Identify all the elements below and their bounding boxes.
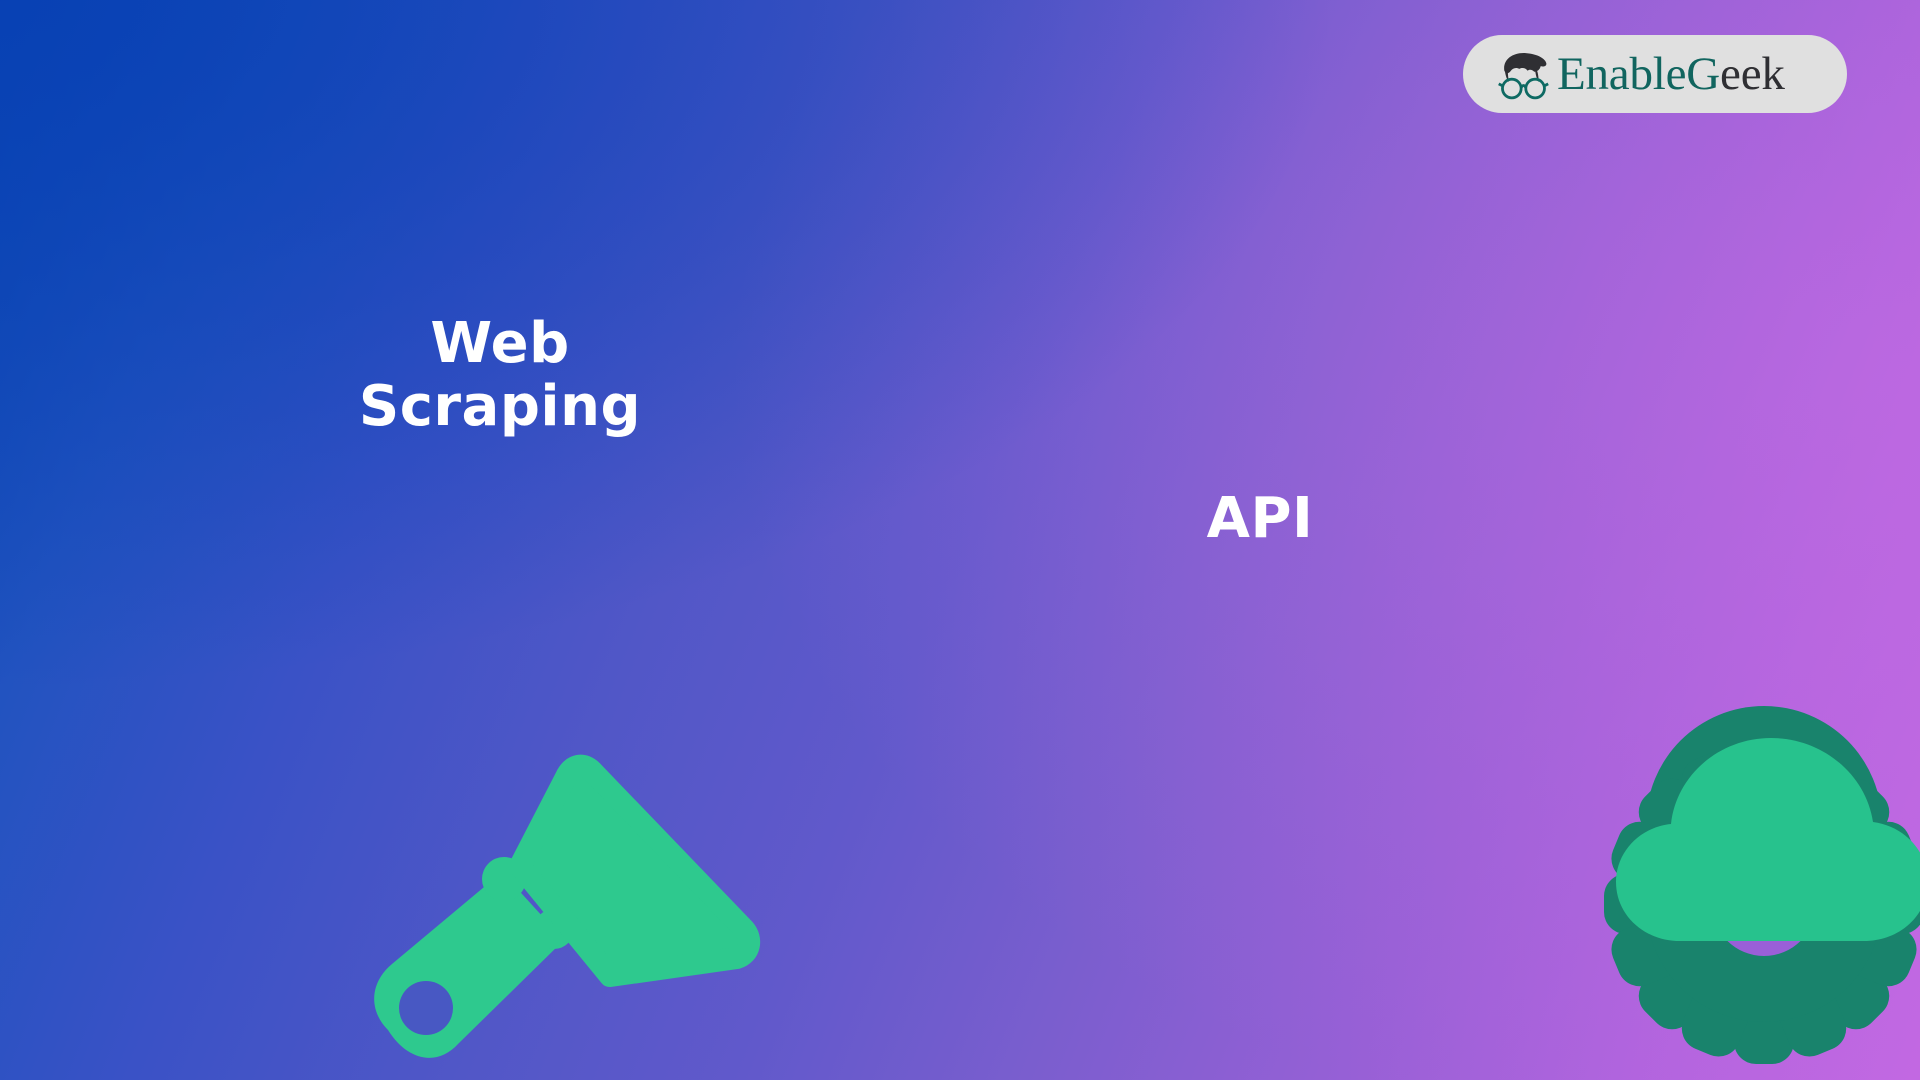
cloud-gear-icon xyxy=(1564,706,1920,1080)
brand-logo-text-enable: Enable xyxy=(1557,48,1686,100)
right-panel-title: API xyxy=(1130,488,1390,551)
brand-logo-text: EnableGeek xyxy=(1557,51,1785,98)
brand-logo-pill[interactable]: EnableGeek xyxy=(1463,35,1847,113)
left-panel-title: Web Scraping xyxy=(300,313,700,438)
poster-canvas: EnableGeek Web Scraping API xyxy=(0,0,1920,1080)
brand-logo-text-eek: eek xyxy=(1720,48,1785,100)
geek-face-glasses-icon xyxy=(1495,49,1551,101)
putty-knife-scraper-icon xyxy=(352,714,762,1080)
left-panel-title-line2: Scraping xyxy=(300,376,700,439)
left-panel-title-line1: Web xyxy=(300,313,700,376)
brand-logo-text-g: G xyxy=(1686,48,1720,100)
